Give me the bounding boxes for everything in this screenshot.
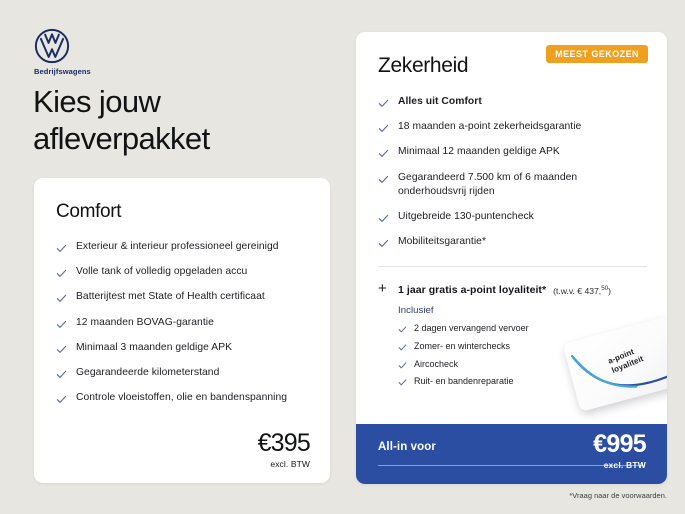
comfort-price-note: excl. BTW xyxy=(258,459,310,469)
list-item-label: Gegarandeerd 7.500 km of 6 maanden onder… xyxy=(398,171,647,199)
status-badge: MEEST GEKOZEN xyxy=(546,45,648,63)
list-item: Volle tank of volledig opgeladen accu xyxy=(56,265,310,279)
list-item-label: Gegarandeerde kilometerstand xyxy=(76,366,219,380)
list-item: Batterijtest met State of Health certifi… xyxy=(56,290,310,304)
package-card-comfort[interactable]: Comfort Exterieur & interieur profession… xyxy=(34,178,330,483)
allin-price: €995 xyxy=(593,432,646,457)
poster-canvas: Bedrijfswagens Kies jouw afleverpakket C… xyxy=(0,0,685,514)
section-divider xyxy=(378,266,647,267)
check-icon xyxy=(56,319,67,330)
page-title: Kies jouw afleverpakket xyxy=(33,84,333,157)
list-item-label: Ruit- en bandenreparatie xyxy=(414,376,514,388)
check-icon xyxy=(378,148,389,159)
brand-subtitle: Bedrijfswagens xyxy=(34,67,234,76)
list-item-label: 12 maanden BOVAG-garantie xyxy=(76,316,214,330)
inclusief-title: Inclusief xyxy=(398,305,647,316)
comfort-content: Comfort Exterieur & interieur profession… xyxy=(56,201,310,405)
list-item: Gegarandeerd 7.500 km of 6 maanden onder… xyxy=(378,171,647,199)
list-item-label: 2 dagen vervangend vervoer xyxy=(414,323,529,335)
comfort-price: €395 xyxy=(258,431,310,456)
allin-price-bar: All-in voor €995 excl. BTW xyxy=(356,424,667,484)
allin-price-note: excl. BTW xyxy=(593,460,646,470)
check-icon xyxy=(56,268,67,279)
check-icon xyxy=(398,378,407,387)
list-item-label: Exterieur & interieur professioneel gere… xyxy=(76,240,279,254)
list-item: 12 maanden BOVAG-garantie xyxy=(56,316,310,330)
disclaimer-text: *Vraag naar de voorwaarden. xyxy=(569,491,667,500)
brand-block: Bedrijfswagens xyxy=(34,28,234,76)
list-item-label: Zomer- en winterchecks xyxy=(414,341,510,353)
inclusief-panel: Inclusief 2 dagen vervangend vervoer Zom… xyxy=(398,305,647,388)
list-item: Controle vloeistoffen, olie en bandenspa… xyxy=(56,391,310,405)
list-item: Gegarandeerde kilometerstand xyxy=(56,366,310,380)
list-item-label: Alles uit Comfort xyxy=(398,95,482,109)
loyalty-addon-label: 1 jaar gratis a-point loyaliteit* xyxy=(398,284,546,296)
zekerheid-feature-list: Alles uit Comfort 18 maanden a-point zek… xyxy=(378,95,647,249)
check-icon xyxy=(56,293,67,304)
list-item-label: Volle tank of volledig opgeladen accu xyxy=(76,265,247,279)
list-item: Exterieur & interieur professioneel gere… xyxy=(56,240,310,254)
list-item-label: Mobiliteitsgarantie* xyxy=(398,235,486,249)
zekerheid-content: Zekerheid Alles uit Comfort 18 maanden a… xyxy=(378,54,647,394)
check-icon xyxy=(398,325,407,334)
check-icon xyxy=(378,213,389,224)
comfort-price-block: €395 excl. BTW xyxy=(258,431,310,469)
list-item-label: Minimaal 3 maanden geldige APK xyxy=(76,341,232,355)
comfort-title: Comfort xyxy=(56,201,310,223)
list-item: Mobiliteitsgarantie* xyxy=(378,235,647,249)
check-icon xyxy=(378,238,389,249)
list-item-label: Minimaal 12 maanden geldige APK xyxy=(398,145,560,159)
list-item: Alles uit Comfort xyxy=(378,95,647,109)
list-item-label: Uitgebreide 130-puntencheck xyxy=(398,210,534,224)
check-icon xyxy=(378,174,389,185)
check-icon xyxy=(56,369,67,380)
vw-logo-icon xyxy=(34,28,234,64)
loyalty-addon-row: + 1 jaar gratis a-point loyaliteit* (t.w… xyxy=(378,281,647,296)
list-item: Minimaal 12 maanden geldige APK xyxy=(378,145,647,159)
loyalty-addon-value: (t.w.v. € 437,50) xyxy=(553,285,611,296)
check-icon xyxy=(56,394,67,405)
list-item: 18 maanden a-point zekerheidsgarantie xyxy=(378,120,647,134)
list-item: Uitgebreide 130-puntencheck xyxy=(378,210,647,224)
plus-icon: + xyxy=(378,281,391,296)
package-card-zekerheid[interactable]: MEEST GEKOZEN Zekerheid Alles uit Comfor… xyxy=(356,32,667,484)
check-icon xyxy=(56,344,67,355)
list-item-label: Aircocheck xyxy=(414,359,458,371)
allin-label: All-in voor xyxy=(378,441,436,453)
check-icon xyxy=(378,123,389,134)
list-item: Minimaal 3 maanden geldige APK xyxy=(56,341,310,355)
check-icon xyxy=(398,343,407,352)
list-item-label: Batterijtest met State of Health certifi… xyxy=(76,290,265,304)
list-item-label: 18 maanden a-point zekerheidsgarantie xyxy=(398,120,581,134)
allin-price-block: €995 excl. BTW xyxy=(593,432,646,470)
check-icon xyxy=(378,98,389,109)
list-item-label: Controle vloeistoffen, olie en bandenspa… xyxy=(76,391,287,405)
comfort-feature-list: Exterieur & interieur professioneel gere… xyxy=(56,240,310,405)
check-icon xyxy=(56,243,67,254)
check-icon xyxy=(398,361,407,370)
